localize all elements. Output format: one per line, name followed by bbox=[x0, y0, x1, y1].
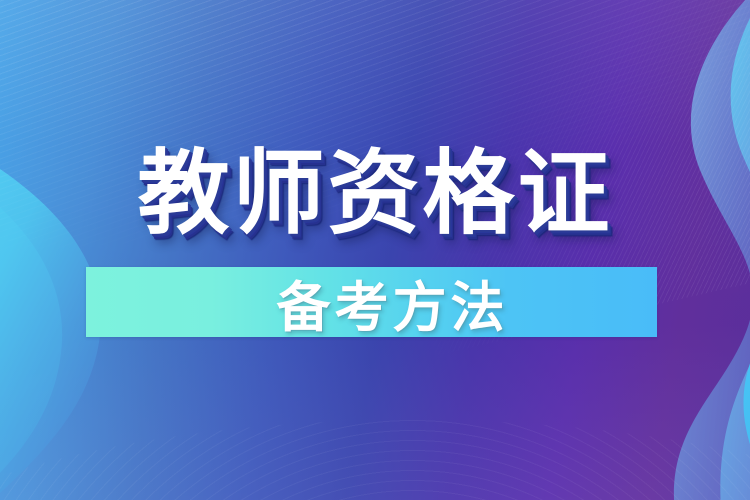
subtitle-text: 备考方法 bbox=[86, 267, 657, 337]
banner-title: 教师资格证 bbox=[0, 148, 750, 240]
subtitle-bar: 备考方法 bbox=[86, 267, 657, 337]
promo-banner: 教师资格证 备考方法 bbox=[0, 0, 750, 500]
